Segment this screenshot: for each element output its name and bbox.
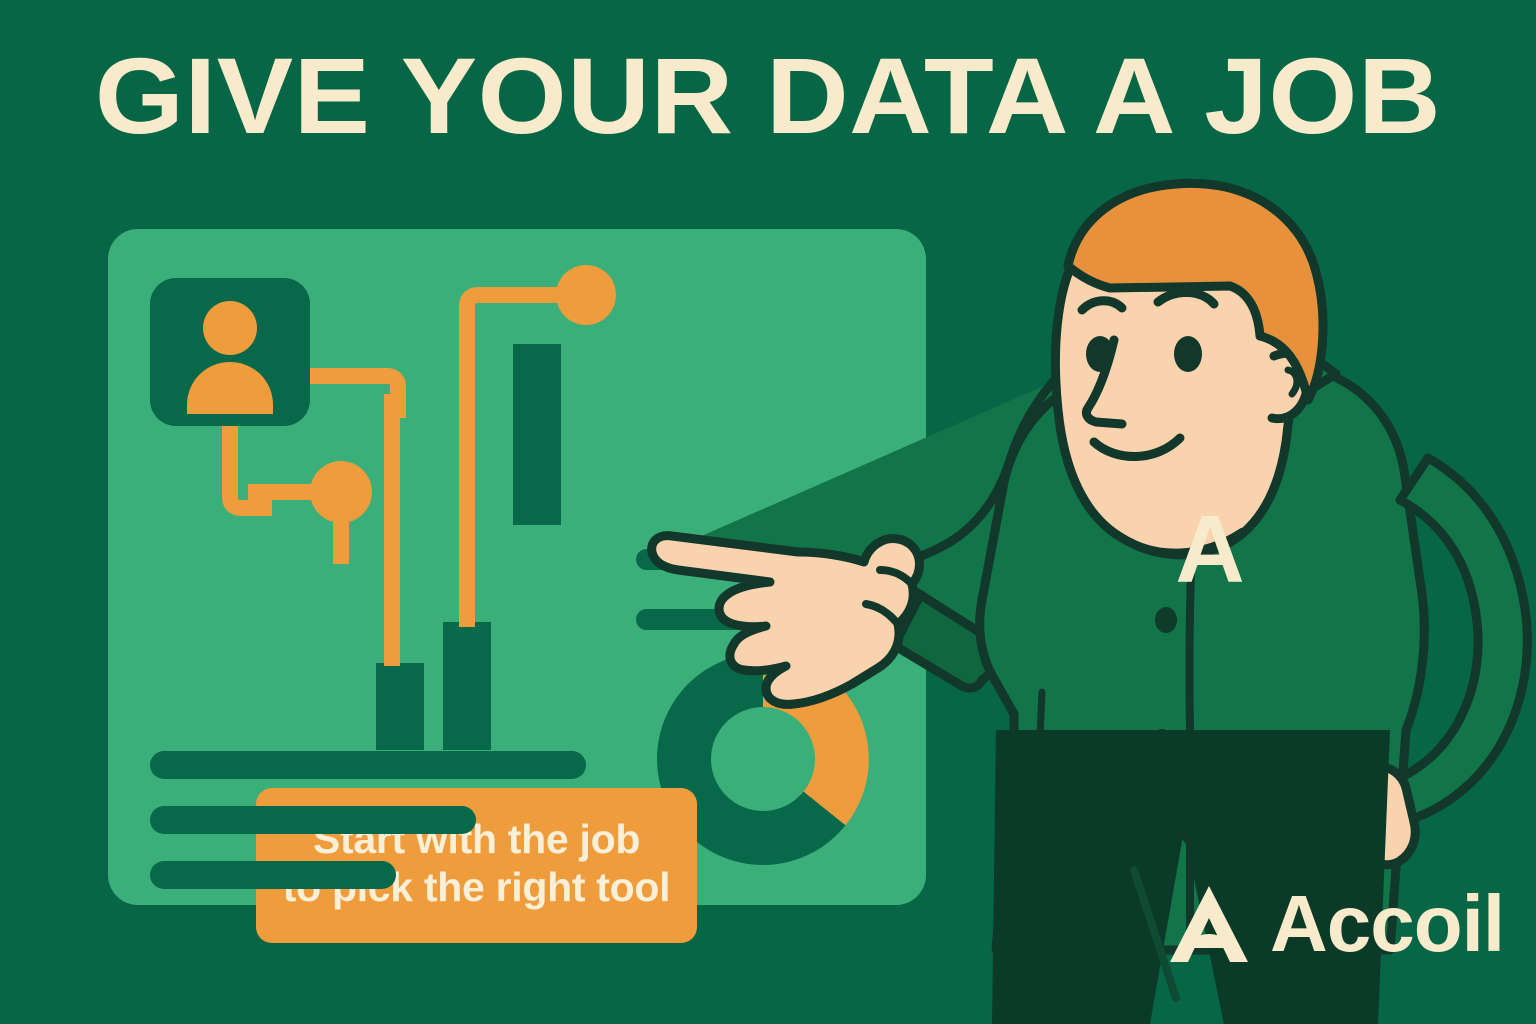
page-title: GIVE YOUR DATA A JOB: [0, 42, 1536, 150]
text-placeholder-3: [150, 861, 396, 889]
shirt-logo-letter: A: [1175, 496, 1244, 603]
avatar-tile[interactable]: [150, 278, 310, 426]
person-icon: [150, 278, 310, 426]
accoil-mark-icon: [1168, 884, 1250, 964]
connector-bar2-to-node-vertical: [459, 307, 475, 627]
text-placeholder-1: [150, 751, 586, 779]
brand-logo[interactable]: Accoil: [1168, 884, 1504, 964]
text-placeholder-2: [150, 806, 476, 834]
connector-avatar-to-bar1-vertical: [384, 394, 400, 666]
connector-dot-to-callout-vertical: [333, 514, 349, 564]
bar-chart-bar-2: [443, 622, 491, 750]
bar-chart-bar-1: [376, 663, 424, 750]
brand-name: Accoil: [1270, 884, 1504, 964]
poster-canvas: GIVE YOUR DATA A JOB: [0, 0, 1536, 1024]
connector-node-dot-top: [556, 265, 616, 325]
bar-chart-bar-3: [513, 344, 561, 525]
